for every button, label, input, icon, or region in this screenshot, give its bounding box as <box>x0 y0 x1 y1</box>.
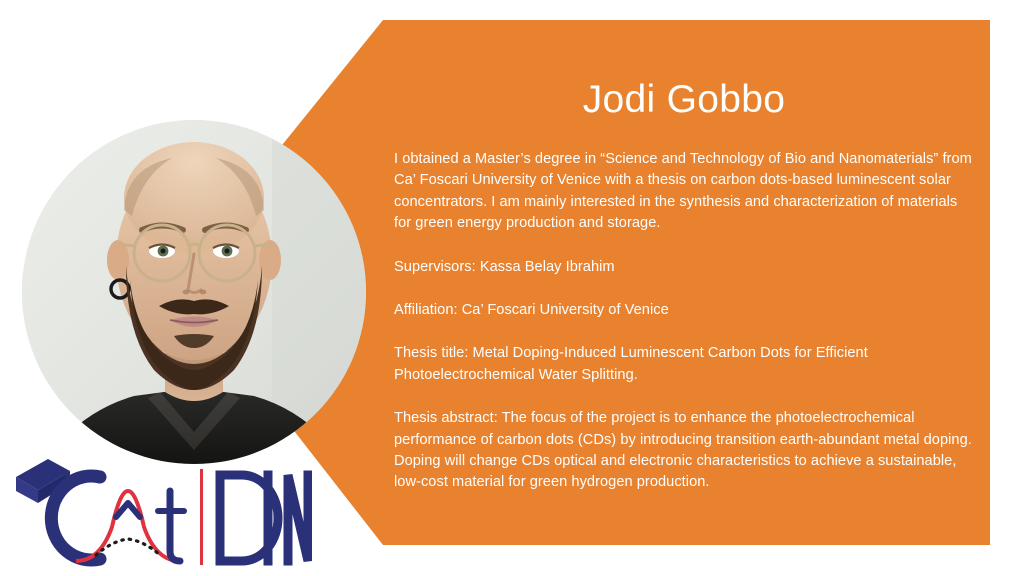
logo-divider <box>200 469 203 565</box>
logo-letter-t <box>158 491 184 561</box>
profile-content: Jodi Gobbo I obtained a Master’s degree … <box>394 20 974 494</box>
field-thesis-abstract: Thesis abstract: The focus of the projec… <box>394 408 972 494</box>
scalp <box>124 142 264 254</box>
logo-text-din <box>220 475 308 561</box>
field-thesis-abstract-label: Thesis abstract: <box>394 410 498 426</box>
profile-slide: Jodi Gobbo I obtained a Master’s degree … <box>0 0 1024 576</box>
field-thesis-title-label: Thesis title: <box>394 345 468 361</box>
portrait-photo <box>22 120 366 464</box>
field-supervisors: Supervisors: Kassa Belay Ibrahim <box>394 257 972 278</box>
field-affiliation-value: Ca’ Foscari University of Venice <box>458 302 669 318</box>
person-name: Jodi Gobbo <box>394 78 974 122</box>
field-supervisors-value: Kassa Belay Ibrahim <box>476 259 615 275</box>
catdin-logo <box>4 455 312 571</box>
logo-letter-c <box>51 476 100 560</box>
field-thesis-title: Thesis title: Metal Doping-Induced Lumin… <box>394 343 972 386</box>
bio-paragraph: I obtained a Master’s degree in “Science… <box>394 149 972 235</box>
field-supervisors-label: Supervisors: <box>394 259 476 275</box>
field-affiliation: Affiliation: Ca’ Foscari University of V… <box>394 300 972 321</box>
field-affiliation-label: Affiliation: <box>394 302 458 318</box>
